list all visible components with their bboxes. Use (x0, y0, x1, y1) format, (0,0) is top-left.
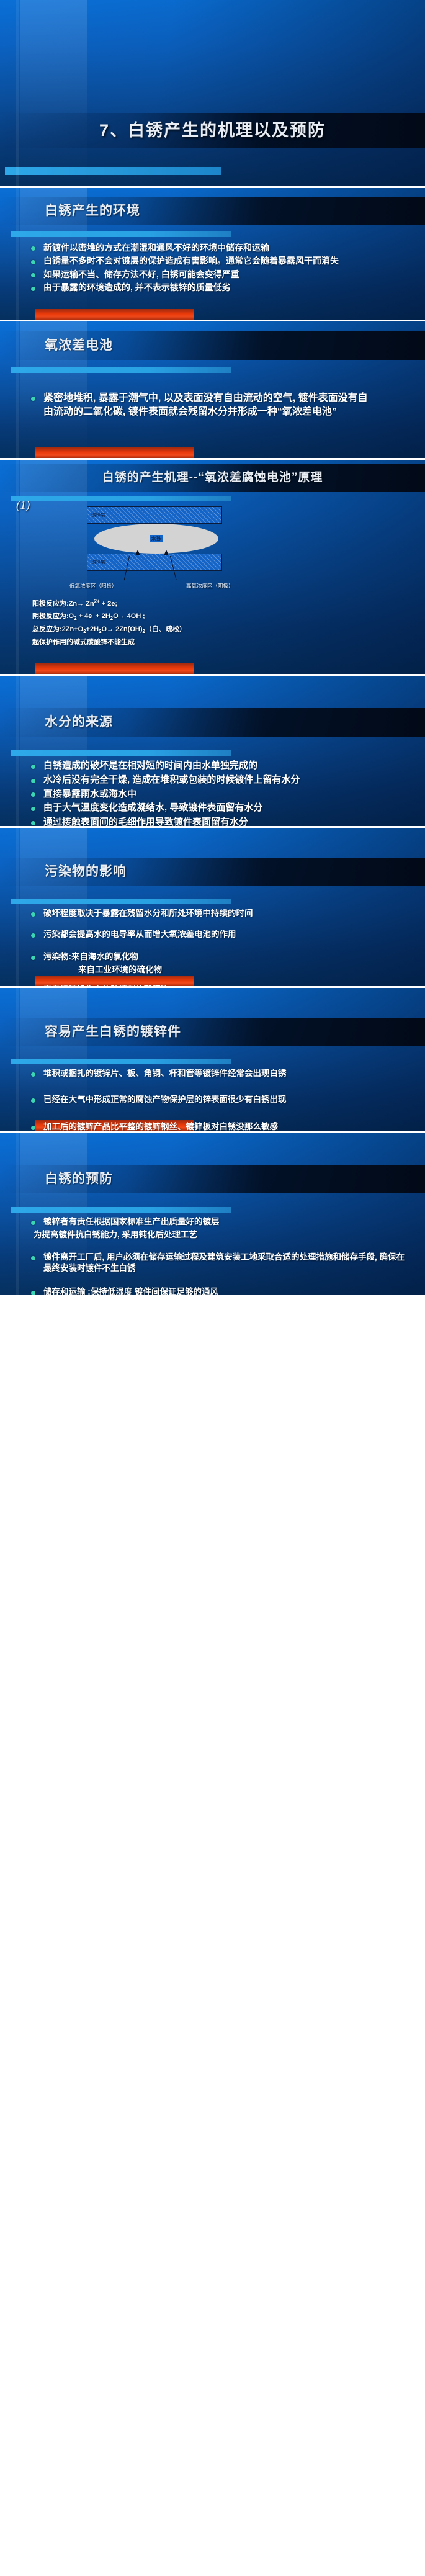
bullet-list: 新镀件以密堆的方式在潮湿和通风不好的环境中储存和运输 白锈量不多时不会对镀层的保… (0, 242, 425, 294)
list-item: 水冷后没有完全干燥, 造成在堆积或包装的时候镀件上留有水分 (27, 774, 344, 786)
list-item: 堆积或捆扎的镀锌片、板、角钢、杆和管等镀锌件经常会出现白锈 (27, 1068, 410, 1079)
slide-prevention: 白锈的预防 镀锌者有责任根据国家标准生产出质量好的镀层 为提高镀件抗白锈能力, … (0, 1133, 425, 1295)
list-item: 直接暴露雨水或海水中 (27, 788, 344, 801)
anode-equation: 阳极反应为:Zn→ Zn2+ + 2e; (32, 598, 425, 608)
slide-heading: 白锈的预防 (0, 1133, 425, 1193)
accent-bar-cyan (11, 231, 231, 237)
list-item: 紧密地堆积, 暴露于潮气中, 以及表面没有自由流动的空气, 镀件表面没有自由流动… (27, 392, 375, 418)
step-number: (1) (16, 499, 30, 513)
list-item: 由于暴露的环境造成的, 并不表示镀锌的质量低劣 (27, 282, 410, 293)
anode-arrow-icon (135, 550, 140, 555)
slide-susceptible-parts: 容易产生白锈的镀锌件 堆积或捆扎的镀锌片、板、角钢、杆和管等镀锌件经常会出现白锈… (0, 988, 425, 1131)
slide-heading: 水分的来源 (0, 676, 425, 737)
slide-environment: 白锈产生的环境 新镀件以密堆的方式在潮湿和通风不好的环境中储存和运输 白锈量不多… (0, 188, 425, 320)
bullet-list: 紧密地堆积, 暴露于潮气中, 以及表面没有自由流动的空气, 镀件表面没有自由流动… (0, 392, 425, 418)
corrosion-cell-diagram: (1) 镀锌层 水珠 镀锌层 低氧浓度区（阳极） 高氧浓度区（阴极） (0, 503, 425, 596)
list-item: 由于大气温度变化造成凝结水, 导致镀件表面留有水分 (27, 802, 344, 814)
zinc-layer-bottom: 镀锌层 (87, 554, 222, 571)
slide-heading: 氧浓差电池 (0, 321, 425, 360)
bullet-list: 堆积或捆扎的镀锌片、板、角钢、杆和管等镀锌件经常会出现白锈 已经在大气中形成正常… (0, 1068, 425, 1131)
accent-bar-cyan (11, 496, 231, 501)
zone-label-cathode: 高氧浓度区（阴极） (186, 582, 234, 590)
list-item: 如果运输不当、储存方法不好, 白锈可能会变得严重 (27, 269, 410, 280)
list-item: 污染物:来自海水的氯化物 (27, 951, 410, 963)
list-item: 镀锌者有责任根据国家标准生产出质量好的镀层 (27, 1216, 410, 1227)
slide-title: 7、白锈产生的机理以及预防 (0, 0, 425, 186)
accent-bar-cyan (11, 367, 231, 373)
slide-heading: 白锈的产生机理--“氧浓差腐蚀电池”原理 (0, 460, 425, 492)
overall-equation-label: 总反应为 (32, 626, 60, 633)
bullet-list: 白锈造成的破坏是在相对短的时间内由水单独完成的 水冷后没有完全干燥, 造成在堆积… (0, 760, 425, 826)
overall-equation: 总反应为:2Zn+O2+2H2O→ 2Zn(OH)2（白、疏松） (32, 624, 425, 634)
list-item: 破坏程度取决于暴露在残留水分和所处环境中持续的时间 (27, 908, 410, 919)
list-item: 镀件离开工厂后, 用户必须在储存运输过程及建筑安装工地采取合适的处理措施和储存手… (27, 1252, 410, 1274)
bullet-list: 镀锌者有责任根据国家标准生产出质量好的镀层 为提高镀件抗白锈能力, 采用钝化后处… (0, 1216, 425, 1295)
slide-heading: 污染物的影响 (0, 828, 425, 886)
list-item: 为提高镀件抗白锈能力, 采用钝化后处理工艺 (27, 1229, 410, 1241)
cathode-equation-label: 阴极反应为 (32, 613, 66, 620)
anode-equation-label: 阳极反应为 (32, 600, 66, 608)
zinc-layer-top: 镀锌层 (87, 506, 222, 524)
accent-bar-cyan (11, 1059, 231, 1064)
presentation-deck: 7、白锈产生的机理以及预防 白锈产生的环境 新镀件以密堆的方式在潮湿和通风不好的… (0, 0, 425, 1295)
list-item: 白锈量不多时不会对镀层的保护造成有害影响。通常它会随着暴露风干而消失 (27, 255, 410, 266)
slide-oxygen-cell: 氧浓差电池 紧密地堆积, 暴露于潮气中, 以及表面没有自由流动的空气, 镀件表面… (0, 321, 425, 458)
list-item: 加工后的镀锌产品比平整的镀锌钢丝、镀锌板对白锈没那么敏感 (27, 1121, 410, 1131)
list-item: 新镀件以密堆的方式在潮湿和通风不好的环境中储存和运输 (27, 242, 410, 253)
water-droplet: 水珠 (94, 524, 218, 554)
accent-bar-cyan (11, 899, 231, 904)
list-item: 污染都会提高水的电导率从而增大氧浓差电池的作用 (27, 929, 410, 940)
cathode-equation: 阴极反应为:O2 + 4e- + 2H2O→ 4OH-; (32, 611, 425, 621)
list-item: 来自镀锌操作中的助镀剂的残留物 (27, 984, 410, 986)
zone-label-anode: 低氧浓度区（阳极） (69, 582, 117, 590)
list-item: 储存和运输 ;保持低湿度 镀件间保证足够的通风 (27, 1286, 410, 1295)
list-item: 来自工业环境的硫化物 (62, 964, 410, 976)
mechanism-note: 起保护作用的碱式碳酸锌不能生成 (32, 637, 425, 647)
accent-bar-red (35, 663, 194, 674)
slide-contaminants: 污染物的影响 破坏程度取决于暴露在残留水分和所处环境中持续的时间 污染都会提高水… (0, 828, 425, 986)
cathode-arrow-icon (164, 550, 169, 555)
zinc-layer-top-label: 镀锌层 (91, 511, 105, 518)
slide-mechanism: 白锈的产生机理--“氧浓差腐蚀电池”原理 (1) 镀锌层 水珠 镀锌层 低氧浓度… (0, 460, 425, 674)
accent-bar-cyan (5, 167, 221, 175)
list-item: 已经在大气中形成正常的腐蚀产物保护层的锌表面很少有白锈出现 (27, 1094, 410, 1105)
list-item: 通过接触表面间的毛细作用导致镀件表面留有水分 (27, 816, 344, 826)
accent-bar-cyan (11, 1207, 231, 1213)
accent-bar-red (35, 447, 194, 458)
bullet-list: 破坏程度取决于暴露在残留水分和所处环境中持续的时间 污染都会提高水的电导率从而增… (0, 908, 425, 986)
list-item: 白锈造成的破坏是在相对短的时间内由水单独完成的 (27, 760, 344, 772)
zinc-layer-bottom-label: 镀锌层 (91, 559, 105, 565)
slide-water-source: 水分的来源 白锈造成的破坏是在相对短的时间内由水单独完成的 水冷后没有完全干燥,… (0, 676, 425, 826)
accent-bar-red (35, 309, 194, 320)
water-droplet-label: 水珠 (150, 535, 163, 542)
page-title: 7、白锈产生的机理以及预防 (0, 113, 425, 148)
slide-heading: 容易产生白锈的镀锌件 (0, 988, 425, 1046)
accent-bar-cyan (11, 750, 231, 756)
slide-heading: 白锈产生的环境 (0, 188, 425, 225)
